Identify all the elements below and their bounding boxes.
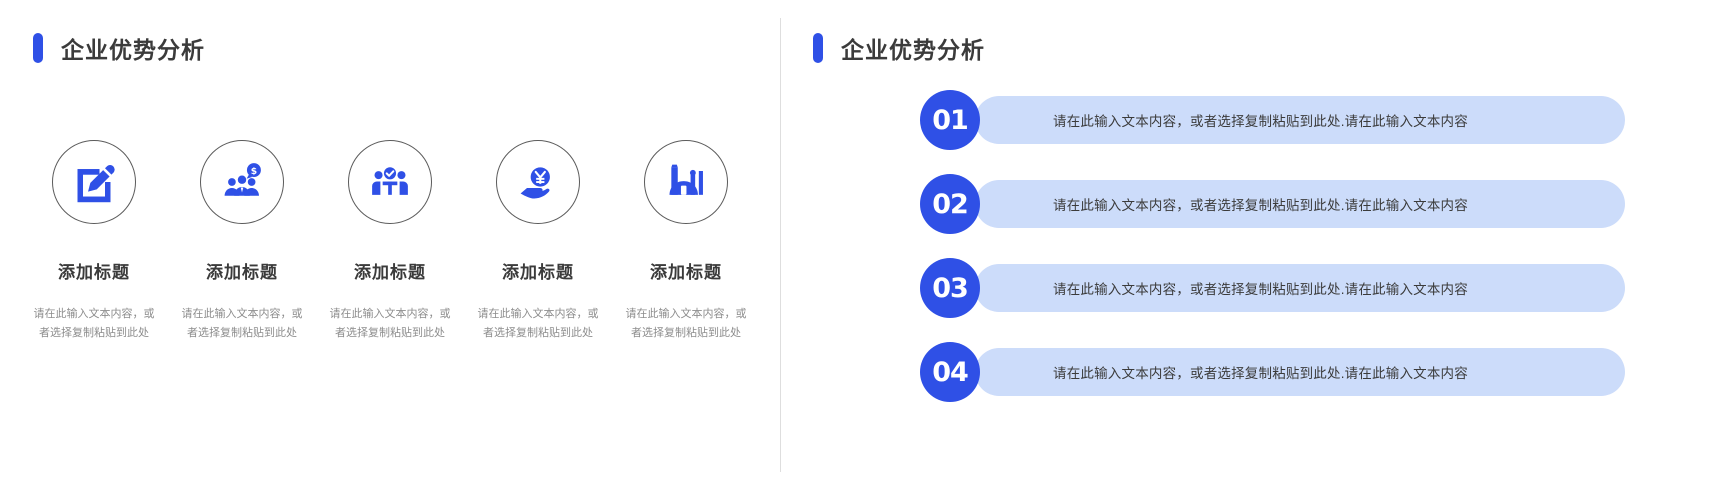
team-check-icon: [368, 160, 412, 204]
step-description: 请在此输入文本内容，或 者选择复制粘贴到此处: [620, 305, 752, 344]
step-icon-circle[interactable]: $: [200, 140, 284, 224]
list-item-number: 02: [920, 174, 980, 234]
step-item[interactable]: 添加标题 请在此输入文本内容，或 者选择复制粘贴到此处: [316, 140, 464, 344]
step-title: 添加标题: [502, 258, 574, 283]
left-panel: 企业优势分析 添加标题 请在此输入文本内容: [0, 0, 780, 490]
step-description-line: 请在此输入文本内容，或: [28, 305, 160, 324]
step-title: 添加标题: [650, 258, 722, 283]
list-item-pill[interactable]: 请在此输入文本内容，或者选择复制粘贴到此处.请在此输入文本内容: [975, 180, 1625, 228]
step-icon-circle[interactable]: [52, 140, 136, 224]
numbered-list: 请在此输入文本内容，或者选择复制粘贴到此处.请在此输入文本内容 01 请在此输入…: [920, 90, 1600, 426]
list-item-pill[interactable]: 请在此输入文本内容，或者选择复制粘贴到此处.请在此输入文本内容: [975, 264, 1625, 312]
title-accent-bar: [813, 33, 823, 63]
page-title: 企业优势分析: [61, 31, 205, 65]
left-section-title: 企业优势分析: [33, 31, 205, 65]
svg-text:$: $: [251, 166, 257, 177]
list-item-number: 04: [920, 342, 980, 402]
step-description-line: 请在此输入文本内容，或: [620, 305, 752, 324]
list-item-text: 请在此输入文本内容，或者选择复制粘贴到此处.请在此输入文本内容: [1053, 362, 1468, 382]
list-item-text: 请在此输入文本内容，或者选择复制粘贴到此处.请在此输入文本内容: [1053, 194, 1468, 214]
step-icon-circle[interactable]: [644, 140, 728, 224]
step-description-line: 请在此输入文本内容，或: [324, 305, 456, 324]
list-item-number: 03: [920, 258, 980, 318]
step-description-line: 者选择复制粘贴到此处: [324, 324, 456, 343]
step-description: 请在此输入文本内容，或 者选择复制粘贴到此处: [28, 305, 160, 344]
step-description: 请在此输入文本内容，或 者选择复制粘贴到此处: [472, 305, 604, 344]
right-panel: 企业优势分析 请在此输入文本内容，或者选择复制粘贴到此处.请在此输入文本内容 0…: [780, 0, 1720, 490]
right-section-title: 企业优势分析: [813, 31, 985, 65]
team-money-icon: $: [220, 160, 264, 204]
list-item-pill[interactable]: 请在此输入文本内容，或者选择复制粘贴到此处.请在此输入文本内容: [975, 96, 1625, 144]
slide-root: 企业优势分析 添加标题 请在此输入文本内容: [0, 0, 1720, 490]
hand-yuan-coin-icon: [516, 160, 560, 204]
step-title: 添加标题: [354, 258, 426, 283]
step-title: 添加标题: [206, 258, 278, 283]
list-item[interactable]: 请在此输入文本内容，或者选择复制粘贴到此处.请在此输入文本内容 02: [920, 174, 1600, 234]
step-description-line: 请在此输入文本内容，或: [472, 305, 604, 324]
step-description-line: 者选择复制粘贴到此处: [28, 324, 160, 343]
factory-icon: [664, 160, 708, 204]
step-description: 请在此输入文本内容，或 者选择复制粘贴到此处: [324, 305, 456, 344]
step-title: 添加标题: [58, 258, 130, 283]
step-description-line: 者选择复制粘贴到此处: [176, 324, 308, 343]
title-accent-bar: [33, 33, 43, 63]
steps-row: 添加标题 请在此输入文本内容，或 者选择复制粘贴到此处: [20, 140, 760, 344]
step-description-line: 请在此输入文本内容，或: [176, 305, 308, 324]
list-item[interactable]: 请在此输入文本内容，或者选择复制粘贴到此处.请在此输入文本内容 03: [920, 258, 1600, 318]
list-item[interactable]: 请在此输入文本内容，或者选择复制粘贴到此处.请在此输入文本内容 01: [920, 90, 1600, 150]
step-icon-circle[interactable]: [496, 140, 580, 224]
list-item[interactable]: 请在此输入文本内容，或者选择复制粘贴到此处.请在此输入文本内容 04: [920, 342, 1600, 402]
step-icon-circle[interactable]: [348, 140, 432, 224]
page-title: 企业优势分析: [841, 31, 985, 65]
list-item-text: 请在此输入文本内容，或者选择复制粘贴到此处.请在此输入文本内容: [1053, 278, 1468, 298]
edit-square-icon: [72, 160, 116, 204]
step-description: 请在此输入文本内容，或 者选择复制粘贴到此处: [176, 305, 308, 344]
list-item-text: 请在此输入文本内容，或者选择复制粘贴到此处.请在此输入文本内容: [1053, 110, 1468, 130]
list-item-pill[interactable]: 请在此输入文本内容，或者选择复制粘贴到此处.请在此输入文本内容: [975, 348, 1625, 396]
step-item[interactable]: $ 添加标题 请在此输入文本内容，或 者选择复制粘贴到此处: [168, 140, 316, 344]
step-item[interactable]: 添加标题 请在此输入文本内容，或 者选择复制粘贴到此处: [464, 140, 612, 344]
step-item[interactable]: 添加标题 请在此输入文本内容，或 者选择复制粘贴到此处: [20, 140, 168, 344]
step-item[interactable]: 添加标题 请在此输入文本内容，或 者选择复制粘贴到此处: [612, 140, 760, 344]
step-description-line: 者选择复制粘贴到此处: [620, 324, 752, 343]
list-item-number: 01: [920, 90, 980, 150]
step-description-line: 者选择复制粘贴到此处: [472, 324, 604, 343]
